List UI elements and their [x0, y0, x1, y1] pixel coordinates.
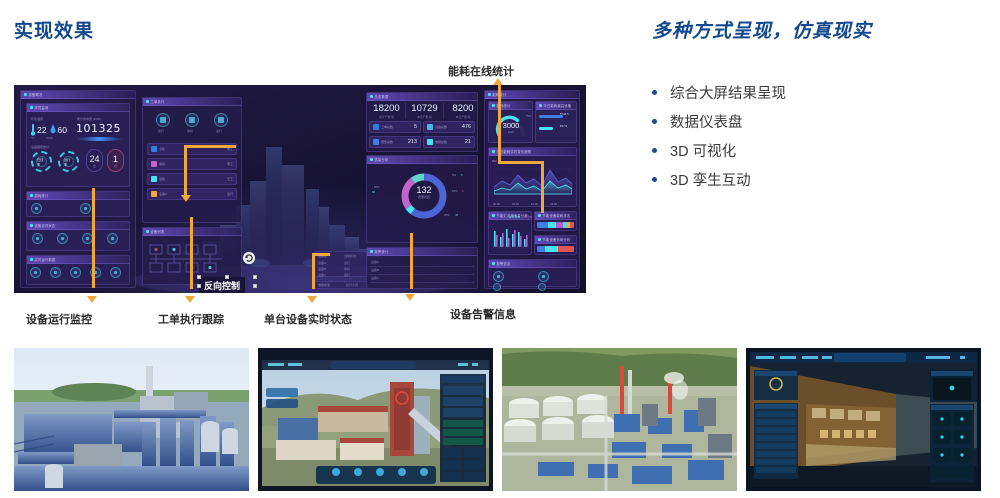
meter-value: 101325 — [76, 122, 121, 135]
tiles-label: 设备报警统计 — [31, 145, 49, 149]
kpi-value: 18200 — [368, 103, 405, 114]
ring-label: 运行率 — [63, 156, 74, 167]
summary-row-1[interactable]: 工单总数 5 — [369, 121, 421, 133]
table-row: 设备B — [318, 267, 326, 271]
panel-title: 设备列表 — [151, 229, 165, 234]
kpi-cell: 10729 本月产量 吨 — [406, 103, 444, 119]
trend-tick-0: 00:00 — [493, 202, 500, 206]
table-maint-col2: 执行人员 — [346, 283, 358, 287]
load-stacked-bar — [537, 246, 574, 252]
callout-arrow-monitor — [87, 296, 97, 303]
panel-header: 能耗统计 — [489, 102, 532, 110]
alarm-tile-a-value: 24 — [89, 154, 99, 164]
row-value: 213 — [408, 139, 417, 145]
alarm-tile-b: 1 起 — [107, 149, 124, 172]
humidity-icon — [50, 123, 56, 136]
panel-header: 实时运行数据 — [27, 256, 129, 264]
alarm-row-2: 设备B — [371, 268, 379, 272]
row-label: 保养 — [159, 162, 165, 166]
panel-title: 质量分析 — [375, 157, 389, 162]
energy-trend-area-chart — [494, 161, 572, 201]
trend-tick-2: 12:00 — [531, 202, 538, 206]
panel-header: 节能设备能耗排名 — [535, 212, 576, 220]
panel-energy-top: 今日能耗最高设备 — [535, 101, 577, 143]
bullet-dot-icon — [652, 177, 657, 182]
bullet-dot-icon — [652, 90, 657, 95]
row-value: 5 — [414, 124, 417, 130]
status-icon-2[interactable] — [57, 233, 68, 244]
alarm-tile-b-unit: 起 — [114, 164, 117, 168]
panel-energy-left: 能耗统计 — [26, 191, 130, 217]
workorder-icon — [373, 124, 379, 130]
leader-line-reverse-h — [184, 145, 236, 148]
kpi-unit: 本月产量 吨 — [406, 115, 443, 119]
alarm-tile-b-value: 1 — [113, 154, 118, 164]
workorder-icon-2[interactable] — [185, 113, 199, 127]
panel-title: 今日能耗实时变化趋势 — [497, 149, 532, 154]
callout-label-workorder: 工单执行跟踪 — [158, 311, 224, 327]
panel-header: 设备实时状态 — [27, 222, 129, 230]
selection-handle-tr[interactable] — [253, 275, 257, 279]
panel-title: 报警统计 — [375, 249, 389, 254]
panel-header: 今日能耗实时变化趋势 — [489, 148, 576, 156]
trend-tick-3: 18:00 — [550, 202, 557, 206]
alarm-tile-a-unit: 台 — [93, 164, 96, 168]
power-legend-b: 上月用电 — [521, 215, 532, 219]
panel-title: 实时运行数据 — [35, 257, 56, 262]
panel-title: 环境监测 — [35, 105, 49, 110]
gallery-item-4[interactable] — [746, 348, 981, 491]
panel-title: 能耗统计 — [35, 193, 49, 198]
selection-handle-tl[interactable] — [197, 275, 201, 279]
callout-label-alarm: 设备告警信息 — [450, 306, 516, 322]
quality-legend-1-pct: 5% — [452, 173, 456, 177]
table-row-value: 运行 — [344, 261, 350, 265]
panel-title: 设备实时状态 — [35, 223, 56, 228]
summary-row-2[interactable]: 设备总数 476 — [423, 121, 475, 133]
report-icon-3[interactable] — [538, 271, 549, 282]
list-item: 3D 可视化 — [652, 136, 982, 165]
quality-legend-3-pct: 25% — [444, 213, 450, 217]
report-icon-4[interactable] — [538, 283, 546, 291]
energy-icon-1[interactable] — [31, 203, 42, 214]
kpi-value: 10729 — [406, 103, 443, 114]
selection-handle-tm[interactable] — [225, 275, 229, 279]
kpi-cell: 18200 累计产量 吨 — [368, 103, 406, 119]
quality-center: 132 质量问题 — [409, 185, 439, 199]
status-icon-4[interactable] — [107, 233, 118, 244]
panel-header: 质量分析 — [367, 156, 477, 164]
callout-label-monitor: 设备运行监控 — [26, 311, 92, 327]
panel-header: 节能设备负荷分析 — [535, 236, 576, 244]
workorder-icon-3[interactable] — [214, 113, 228, 127]
feature-bullet-list: 综合大屏结果呈现 数据仪表盘 3D 可视化 3D 孪生互动 — [652, 78, 982, 194]
panel-header: 总览数据 — [367, 93, 477, 101]
leader-line-status-h — [312, 253, 330, 256]
row-value: 476 — [462, 124, 471, 130]
table-row: 设备A — [318, 261, 326, 265]
page-title-right: 多种方式呈现，仿真现实 — [652, 16, 872, 43]
table-row-value: 运行 — [344, 273, 350, 277]
leader-line-workorder — [190, 217, 193, 289]
table-device-col2: 当前状态 — [344, 254, 356, 258]
leader-line-energy-v — [498, 85, 501, 163]
summary-row-3[interactable]: 报警总数 213 — [369, 136, 421, 148]
panel-load: 节能设备负荷分析 — [534, 235, 577, 255]
kpi-cell: 8200 本日产量 吨 — [444, 103, 482, 119]
callout-arrow-status — [307, 296, 317, 303]
runtime-icon-5[interactable] — [110, 267, 121, 278]
slide-root: 实现效果 多种方式呈现，仿真现实 综合大屏结果呈现 数据仪表盘 3D 可视化 3… — [0, 0, 1000, 498]
runtime-icon-1[interactable] — [30, 267, 41, 278]
workorder-row-2[interactable]: 保养 李工 — [147, 158, 237, 170]
row-label: 设备A — [159, 192, 167, 196]
panel-title: 今日能耗最高设备 — [544, 103, 572, 108]
kpi-unit: 累计产量 吨 — [368, 115, 405, 119]
quality-center-value: 132 — [409, 185, 439, 195]
callout-arrow-alarm — [405, 294, 415, 301]
doc-icon — [151, 161, 157, 167]
temperature-unit: °C — [31, 136, 34, 140]
gallery-item-3[interactable] — [502, 348, 737, 491]
ring-label: 在线率 — [36, 156, 47, 167]
panel-title: 节能设备能耗排名 — [543, 213, 571, 218]
temperature-value: 22 — [37, 124, 46, 136]
doc-icon — [151, 191, 157, 197]
env-section-label: 环境温度 — [31, 117, 43, 121]
ring-gauge-online: 在线率 — [31, 151, 52, 172]
gallery-item-2[interactable] — [258, 348, 493, 491]
summary-row-4[interactable]: 维保总数 21 — [423, 136, 475, 148]
quality-legend-3-value: 38 — [455, 213, 458, 217]
panel-header: 能耗统计 — [27, 192, 129, 200]
energy-bar-2 — [539, 127, 553, 130]
panel-header: 环境监测 — [27, 104, 129, 112]
doc-icon — [151, 176, 157, 182]
workorder-label-1: 运行 — [158, 129, 164, 133]
row-value: 李工 — [227, 162, 233, 166]
trend-ymax: 800 — [492, 159, 497, 163]
row-label: 报警总数 — [381, 140, 393, 144]
meter-glow — [76, 137, 123, 141]
kpi-unit: 本日产量 吨 — [444, 115, 482, 119]
trend-tick-1: 06:00 — [512, 202, 519, 206]
row-value: 运行 — [227, 192, 233, 196]
workorder-label-3: 运行 — [216, 129, 222, 133]
bullet-label: 3D 可视化 — [670, 140, 736, 161]
summary-kpis: 18200 累计产量 吨 10729 本月产量 吨 8200 本日产量 吨 — [368, 103, 482, 119]
power-grouped-bar-chart — [493, 224, 529, 250]
quality-legend-0-pct: 60% — [374, 185, 380, 189]
quality-legend-2-value: 9 — [462, 189, 464, 193]
dashboard-screenshot: 设备概况 环境监测 环境温度 22 60 °C %RH 累计用电量 (kWh) … — [14, 85, 586, 293]
selection-handle-ml[interactable] — [197, 284, 201, 288]
reverse-control-tag[interactable]: 反向控制 — [199, 277, 245, 293]
callout-label-status: 单台设备实时状态 — [264, 311, 352, 327]
temperature-readout: 22 60 — [30, 123, 67, 136]
runtime-icon-2[interactable] — [50, 267, 61, 278]
panel-header: 工单执行 — [143, 98, 241, 106]
energy-gauge-max: 75% — [526, 114, 532, 118]
energy-bar-1-value: 5743.5 — [560, 112, 569, 116]
panel-title: 报警信息 — [497, 261, 511, 266]
selection-handle-mr[interactable] — [253, 284, 257, 288]
humidity-value: 60 — [57, 124, 66, 136]
gallery-strip — [14, 348, 981, 491]
report-icon-1[interactable] — [493, 271, 504, 282]
bullet-dot-icon — [652, 119, 657, 124]
gallery-item-1[interactable] — [14, 348, 249, 491]
panel-rank: 节能设备能耗排名 — [534, 211, 577, 231]
bullet-dot-icon — [652, 148, 657, 153]
page-title-left: 实现效果 — [14, 16, 94, 43]
wrench-icon — [427, 139, 433, 145]
row-label: 维保总数 — [435, 140, 447, 144]
runtime-icon-3[interactable] — [70, 267, 81, 278]
row-value: 21 — [465, 139, 471, 145]
bullet-label: 3D 孪生互动 — [670, 169, 751, 190]
panel-title: 工单执行 — [151, 99, 165, 104]
leader-line-energy-h — [498, 161, 544, 164]
callout-energy-arrow — [493, 78, 503, 85]
quality-center-label: 质量问题 — [409, 195, 439, 199]
list-item: 综合大屏结果呈现 — [652, 78, 982, 107]
row-label: 点检 — [159, 147, 165, 151]
table-row-value: 停机 — [344, 267, 350, 271]
thermometer-icon — [30, 123, 36, 136]
row-label: 设备总数 — [435, 125, 447, 129]
status-icon-1[interactable] — [32, 233, 43, 244]
bullet-label: 综合大屏结果呈现 — [670, 82, 786, 103]
panel-header: 今日能耗最高设备 — [536, 102, 576, 110]
leader-line-energy-v2 — [541, 161, 544, 213]
workorder-label-2: 停机 — [187, 129, 193, 133]
energy-bar-2-value: 817.9 — [560, 124, 567, 128]
refresh-cursor-icon — [242, 251, 256, 265]
table-row: 设备C — [318, 273, 326, 277]
panel-header: 设备概况 — [21, 91, 135, 99]
leader-line-alarm — [410, 233, 413, 289]
row-label: 工单总数 — [381, 125, 393, 129]
meter-label: 累计用电量 (kWh) — [77, 117, 101, 121]
workorder-icon-1[interactable] — [156, 113, 170, 127]
power-legend-a: 本月用电 — [509, 215, 520, 219]
table-maint-col1: 维保类型 — [318, 283, 330, 287]
quality-legend-0-value: 80 — [372, 190, 375, 194]
list-item: 3D 孪生互动 — [652, 165, 982, 194]
kpi-value: 8200 — [444, 103, 482, 114]
alarm-icon — [373, 139, 379, 145]
panel-header: 报警信息 — [489, 260, 576, 268]
leader-arrow-reverse — [181, 195, 191, 202]
quality-legend-1-value: 5 — [461, 173, 463, 177]
leader-line-reverse-v — [184, 145, 187, 195]
panel-header: 报警统计 — [367, 248, 477, 256]
row-value: 王工 — [227, 177, 233, 181]
bullet-label: 数据仪表盘 — [670, 111, 743, 132]
doc-icon — [151, 146, 157, 152]
row-label: 巡检 — [159, 177, 165, 181]
leader-line-monitor — [92, 188, 95, 288]
list-item: 数据仪表盘 — [652, 107, 982, 136]
report-icon-2[interactable] — [493, 283, 501, 291]
panel-title: 设备概况 — [29, 92, 43, 97]
workorder-row-4[interactable]: 设备A 运行 — [147, 188, 237, 200]
rank-stacked-bar — [537, 222, 574, 228]
ring-gauge-running: 运行率 — [58, 151, 79, 172]
callout-energy-label: 能耗在线统计 — [448, 63, 514, 79]
alarm-tile-a: 24 台 — [86, 149, 103, 172]
callout-arrow-workorder — [185, 296, 195, 303]
workorder-row-3[interactable]: 巡检 王工 — [147, 173, 237, 185]
panel-title: 节能设备负荷分析 — [543, 237, 571, 242]
alarm-row-3: 设备C — [371, 276, 379, 280]
device-icon — [427, 124, 433, 130]
alarm-row-1: 设备A — [371, 260, 379, 264]
humidity-unit: %RH — [46, 136, 53, 140]
quality-legend-2-pct: 10% — [452, 189, 458, 193]
leader-line-status-v — [312, 253, 315, 289]
panel-title: 总览数据 — [375, 94, 389, 99]
energy-icon-2[interactable] — [80, 203, 91, 214]
